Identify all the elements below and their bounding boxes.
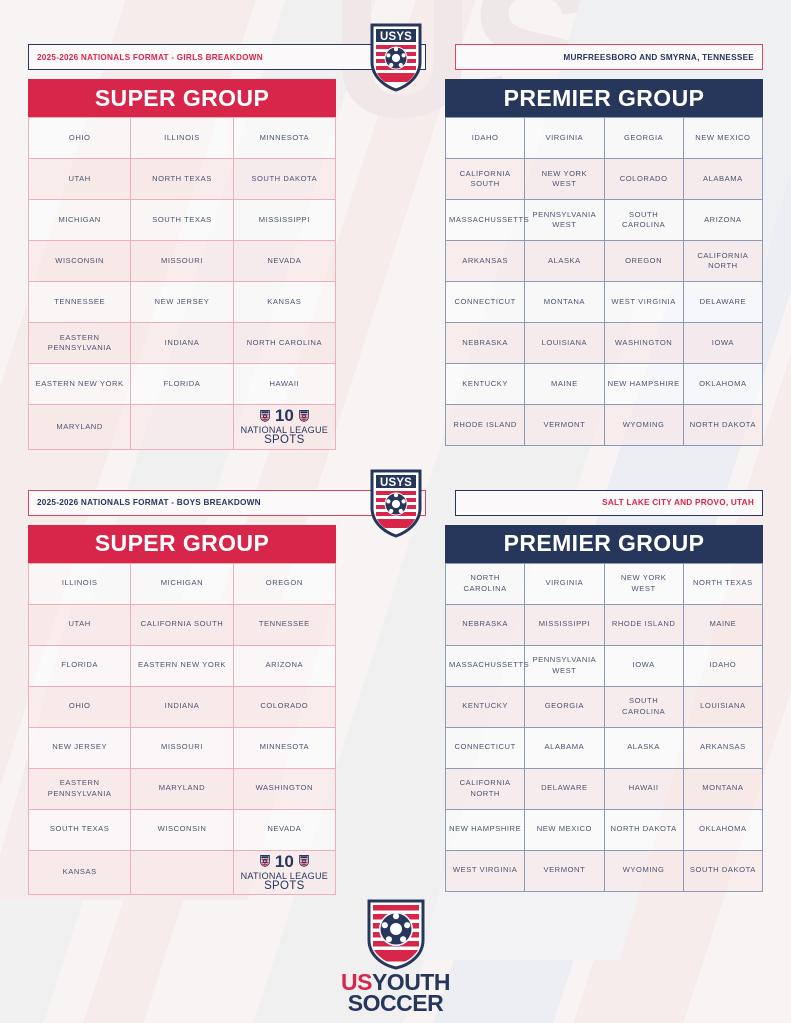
national-league-spots: 10NATIONAL LEAGUESPOTS	[237, 407, 332, 447]
state-cell: ALABAMA	[683, 159, 762, 200]
state-cell: WEST VIRGINIA	[604, 282, 683, 323]
state-cell: COLORADO	[233, 686, 335, 727]
state-cell: MAINE	[683, 604, 762, 645]
state-cell: VERMONT	[525, 850, 604, 891]
state-cell: NEW HAMPSHIRE	[446, 809, 525, 850]
usys-mini-shield-icon	[260, 410, 270, 422]
state-cell: NORTH TEXAS	[131, 159, 233, 200]
location-label-girls: MURFREESBORO AND SMYRNA, TENNESSEE	[455, 44, 763, 70]
table-row: UTAHCALIFORNIA SOUTHTENNESSEE	[29, 604, 336, 645]
national-league-spots-cell: 10NATIONAL LEAGUESPOTS	[233, 850, 335, 895]
state-cell: MISSISSIPPI	[525, 604, 604, 645]
table-row: NEBRASKALOUISIANAWASHINGTONIOWA	[446, 323, 763, 364]
nls-line2: SPOTS	[264, 881, 304, 893]
nls-count: 10	[275, 407, 294, 424]
state-cell: NEBRASKA	[446, 604, 525, 645]
state-cell: NEW YORK WEST	[525, 159, 604, 200]
state-cell: CALIFORNIA SOUTH	[131, 604, 233, 645]
state-cell: ARKANSAS	[446, 241, 525, 282]
usys-mini-shield-icon	[299, 855, 309, 867]
state-cell: OREGON	[233, 563, 335, 604]
table-row: TENNESSEENEW JERSEYKANSAS	[29, 282, 336, 323]
nls-count-row: 10	[260, 407, 309, 424]
super-group-table: OHIOILLINOISMINNESOTAUTAHNORTH TEXASSOUT…	[28, 117, 336, 450]
nls-line2: SPOTS	[264, 435, 304, 447]
table-row: MASSACHUSSETTSPENNSYLVANIA WESTSOUTH CAR…	[446, 200, 763, 241]
state-cell: NEW MEXICO	[525, 809, 604, 850]
state-cell: SOUTH DAKOTA	[683, 850, 762, 891]
state-cell: UTAH	[29, 159, 131, 200]
state-cell: NEW JERSEY	[131, 282, 233, 323]
table-row: RHODE ISLANDVERMONTWYOMINGNORTH DAKOTA	[446, 405, 763, 446]
state-cell: MONTANA	[525, 282, 604, 323]
state-cell: FLORIDA	[131, 364, 233, 405]
state-cell: GEORGIA	[604, 118, 683, 159]
state-cell: OREGON	[604, 241, 683, 282]
state-cell: HAWAII	[604, 768, 683, 809]
state-cell: KANSAS	[29, 850, 131, 895]
state-cell: NEW JERSEY	[29, 727, 131, 768]
state-cell: VIRGINIA	[525, 118, 604, 159]
state-cell: MISSOURI	[131, 727, 233, 768]
state-cell: EASTERN PENNSYLVANIA	[29, 768, 131, 809]
state-cell: CONNECTICUT	[446, 282, 525, 323]
state-cell: OHIO	[29, 686, 131, 727]
state-cell: EASTERN NEW YORK	[131, 645, 233, 686]
nls-count: 10	[275, 853, 294, 870]
state-cell: MINNESOTA	[233, 118, 335, 159]
state-cell: MAINE	[525, 364, 604, 405]
state-cell: PENNSYLVANIA WEST	[525, 200, 604, 241]
state-cell: PENNSYLVANIA WEST	[525, 645, 604, 686]
national-league-spots-cell: 10NATIONAL LEAGUESPOTS	[233, 405, 335, 450]
state-cell: ARIZONA	[683, 200, 762, 241]
super-group-table: ILLINOISMICHIGANOREGONUTAHCALIFORNIA SOU…	[28, 563, 336, 896]
state-cell: ILLINOIS	[29, 563, 131, 604]
table-row: ARKANSASALASKAOREGONCALIFORNIA NORTH	[446, 241, 763, 282]
state-cell: MARYLAND	[29, 405, 131, 450]
footer-soccer: SOCCER	[348, 990, 443, 1016]
premier-group-title: PREMIER GROUP	[445, 525, 763, 563]
empty-cell	[131, 405, 233, 450]
state-cell: ALASKA	[525, 241, 604, 282]
state-cell: SOUTH DAKOTA	[233, 159, 335, 200]
state-cell: MASSACHUSSETTS	[446, 645, 525, 686]
state-cell: DELAWARE	[683, 282, 762, 323]
table-row: MICHIGANSOUTH TEXASMISSISSIPPI	[29, 200, 336, 241]
state-cell: NORTH DAKOTA	[604, 809, 683, 850]
table-row: NEW HAMPSHIRENEW MEXICONORTH DAKOTAOKLAH…	[446, 809, 763, 850]
state-cell: UTAH	[29, 604, 131, 645]
state-cell: WISCONSIN	[131, 809, 233, 850]
table-row: WEST VIRGINIAVERMONTWYOMINGSOUTH DAKOTA	[446, 850, 763, 891]
section-topbar: 2025-2026 NATIONALS FORMAT - BOYS BREAKD…	[28, 490, 763, 518]
state-cell: CONNECTICUT	[446, 727, 525, 768]
state-cell: MISSISSIPPI	[233, 200, 335, 241]
table-row: CONNECTICUTMONTANAWEST VIRGINIADELAWARE	[446, 282, 763, 323]
state-cell: KANSAS	[233, 282, 335, 323]
page-root: 2025-2026 NATIONALS FORMAT - GIRLS BREAK…	[0, 0, 791, 1023]
state-cell: NEVADA	[233, 241, 335, 282]
state-cell: ILLINOIS	[131, 118, 233, 159]
state-cell: TENNESSEE	[29, 282, 131, 323]
table-row: SOUTH TEXASWISCONSINNEVADA	[29, 809, 336, 850]
state-cell: RHODE ISLAND	[604, 604, 683, 645]
state-cell: EASTERN PENNSYLVANIA	[29, 323, 131, 364]
state-cell: NORTH DAKOTA	[683, 405, 762, 446]
table-row: WISCONSINMISSOURINEVADA	[29, 241, 336, 282]
state-cell: INDIANA	[131, 686, 233, 727]
empty-cell	[131, 850, 233, 895]
premier-group-table: IDAHOVIRGINIAGEORGIANEW MEXICOCALIFORNIA…	[445, 117, 763, 446]
state-cell: ARKANSAS	[683, 727, 762, 768]
state-cell: INDIANA	[131, 323, 233, 364]
table-row: NEBRASKAMISSISSIPPIRHODE ISLANDMAINE	[446, 604, 763, 645]
super-group-title: SUPER GROUP	[28, 525, 336, 563]
state-cell: SOUTH CAROLINA	[604, 686, 683, 727]
table-row: CALIFORNIA SOUTHNEW YORK WESTCOLORADOALA…	[446, 159, 763, 200]
super-group-column: SUPER GROUP OHIOILLINOISMINNESOTAUTAHNOR…	[28, 79, 336, 450]
state-cell: GEORGIA	[525, 686, 604, 727]
us-youth-soccer-shield-icon	[365, 898, 427, 970]
state-cell: KENTUCKY	[446, 364, 525, 405]
state-cell: HAWAII	[233, 364, 335, 405]
table-row: ILLINOISMICHIGANOREGON	[29, 563, 336, 604]
table-row: EASTERN PENNSYLVANIAINDIANANORTH CAROLIN…	[29, 323, 336, 364]
section-girls: 2025-2026 NATIONALS FORMAT - GIRLS BREAK…	[0, 0, 791, 450]
group-columns: SUPER GROUP ILLINOISMICHIGANOREGONUTAHCA…	[28, 525, 763, 896]
premier-group-column: PREMIER GROUP IDAHOVIRGINIAGEORGIANEW ME…	[445, 79, 763, 450]
state-cell: VERMONT	[525, 405, 604, 446]
state-cell: IOWA	[683, 323, 762, 364]
usys-mini-shield-icon	[260, 855, 270, 867]
format-label-boys: 2025-2026 NATIONALS FORMAT - BOYS BREAKD…	[28, 490, 426, 516]
usys-mini-shield-icon	[299, 410, 309, 422]
state-cell: MISSOURI	[131, 241, 233, 282]
state-cell: SOUTH TEXAS	[29, 809, 131, 850]
premier-group-column: PREMIER GROUP NORTH CAROLINAVIRGINIANEW …	[445, 525, 763, 896]
state-cell: NORTH CAROLINA	[233, 323, 335, 364]
state-cell: FLORIDA	[29, 645, 131, 686]
nls-count-row: 10	[260, 853, 309, 870]
super-group-title: SUPER GROUP	[28, 79, 336, 117]
state-cell: OKLAHOMA	[683, 364, 762, 405]
state-cell: NEW MEXICO	[683, 118, 762, 159]
state-cell: COLORADO	[604, 159, 683, 200]
state-cell: NORTH TEXAS	[683, 563, 762, 604]
state-cell: NEW HAMPSHIRE	[604, 364, 683, 405]
state-cell: MICHIGAN	[29, 200, 131, 241]
table-row: FLORIDAEASTERN NEW YORKARIZONA	[29, 645, 336, 686]
svg-text:USYS: USYS	[379, 31, 411, 43]
state-cell: WYOMING	[604, 405, 683, 446]
state-cell: LOUISIANA	[683, 686, 762, 727]
table-row: CONNECTICUTALABAMAALASKAARKANSAS	[446, 727, 763, 768]
state-cell: DELAWARE	[525, 768, 604, 809]
state-cell: EASTERN NEW YORK	[29, 364, 131, 405]
footer-logo: USYOUTH SOCCER	[0, 898, 791, 1015]
state-cell: WYOMING	[604, 850, 683, 891]
footer-wordmark: USYOUTH SOCCER	[341, 972, 450, 1015]
state-cell: NORTH CAROLINA	[446, 563, 525, 604]
table-row: KENTUCKYGEORGIASOUTH CAROLINALOUISIANA	[446, 686, 763, 727]
state-cell: MICHIGAN	[131, 563, 233, 604]
state-cell: IDAHO	[446, 118, 525, 159]
national-league-spots: 10NATIONAL LEAGUESPOTS	[237, 853, 332, 893]
svg-text:USYS: USYS	[379, 476, 411, 488]
state-cell: MONTANA	[683, 768, 762, 809]
table-row: KANSAS10NATIONAL LEAGUESPOTS	[29, 850, 336, 895]
state-cell: NEW YORK WEST	[604, 563, 683, 604]
table-row: UTAHNORTH TEXASSOUTH DAKOTA	[29, 159, 336, 200]
table-row: OHIOILLINOISMINNESOTA	[29, 118, 336, 159]
state-cell: CALIFORNIA NORTH	[683, 241, 762, 282]
state-cell: KENTUCKY	[446, 686, 525, 727]
state-cell: MINNESOTA	[233, 727, 335, 768]
location-label-boys: SALT LAKE CITY AND PROVO, UTAH	[455, 490, 763, 516]
premier-group-title: PREMIER GROUP	[445, 79, 763, 117]
table-row: MARYLAND10NATIONAL LEAGUESPOTS	[29, 405, 336, 450]
state-cell: OKLAHOMA	[683, 809, 762, 850]
format-label-girls: 2025-2026 NATIONALS FORMAT - GIRLS BREAK…	[28, 44, 426, 70]
section-topbar: 2025-2026 NATIONALS FORMAT - GIRLS BREAK…	[28, 44, 763, 72]
state-cell: ARIZONA	[233, 645, 335, 686]
state-cell: MARYLAND	[131, 768, 233, 809]
super-group-column: SUPER GROUP ILLINOISMICHIGANOREGONUTAHCA…	[28, 525, 336, 896]
state-cell: ALABAMA	[525, 727, 604, 768]
state-cell: ALASKA	[604, 727, 683, 768]
state-cell: LOUISIANA	[525, 323, 604, 364]
state-cell: WEST VIRGINIA	[446, 850, 525, 891]
state-cell: RHODE ISLAND	[446, 405, 525, 446]
state-cell: OHIO	[29, 118, 131, 159]
state-cell: WASHINGTON	[604, 323, 683, 364]
premier-group-table: NORTH CAROLINAVIRGINIANEW YORK WESTNORTH…	[445, 563, 763, 892]
usys-shield-logo: USYS	[368, 22, 424, 92]
table-row: CALIFORNIA NORTHDELAWAREHAWAIIMONTANA	[446, 768, 763, 809]
state-cell: NEBRASKA	[446, 323, 525, 364]
state-cell: VIRGINIA	[525, 563, 604, 604]
state-cell: IDAHO	[683, 645, 762, 686]
state-cell: SOUTH CAROLINA	[604, 200, 683, 241]
state-cell: IOWA	[604, 645, 683, 686]
state-cell: TENNESSEE	[233, 604, 335, 645]
usys-shield-logo: USYS	[368, 468, 424, 538]
table-row: EASTERN NEW YORKFLORIDAHAWAII	[29, 364, 336, 405]
table-row: EASTERN PENNSYLVANIAMARYLANDWASHINGTON	[29, 768, 336, 809]
state-cell: NEVADA	[233, 809, 335, 850]
state-cell: WASHINGTON	[233, 768, 335, 809]
state-cell: WISCONSIN	[29, 241, 131, 282]
group-columns: SUPER GROUP OHIOILLINOISMINNESOTAUTAHNOR…	[28, 79, 763, 450]
table-row: NORTH CAROLINAVIRGINIANEW YORK WESTNORTH…	[446, 563, 763, 604]
table-row: MASSACHUSSETTSPENNSYLVANIA WESTIOWAIDAHO	[446, 645, 763, 686]
state-cell: CALIFORNIA NORTH	[446, 768, 525, 809]
table-row: NEW JERSEYMISSOURIMINNESOTA	[29, 727, 336, 768]
state-cell: SOUTH TEXAS	[131, 200, 233, 241]
table-row: IDAHOVIRGINIAGEORGIANEW MEXICO	[446, 118, 763, 159]
section-boys: 2025-2026 NATIONALS FORMAT - BOYS BREAKD…	[0, 450, 791, 896]
table-row: KENTUCKYMAINENEW HAMPSHIREOKLAHOMA	[446, 364, 763, 405]
state-cell: CALIFORNIA SOUTH	[446, 159, 525, 200]
table-row: OHIOINDIANACOLORADO	[29, 686, 336, 727]
state-cell: MASSACHUSSETTS	[446, 200, 525, 241]
